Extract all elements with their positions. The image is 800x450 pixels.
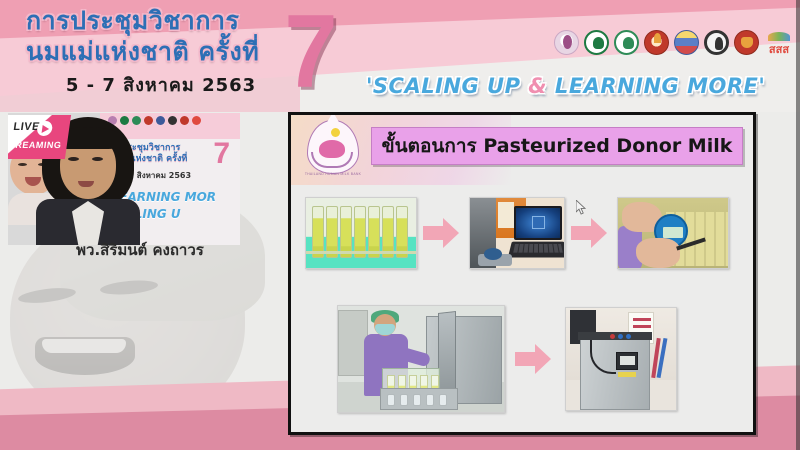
poster-logo-5 xyxy=(156,116,165,125)
pasteurizer-open-lid xyxy=(438,311,456,399)
live-streaming-badge: LIVE STREAMING xyxy=(8,115,71,159)
thai-breastfeeding-center-logo xyxy=(734,30,759,55)
poster-logo-4 xyxy=(144,116,153,125)
poster-logo-8 xyxy=(192,116,201,125)
arrow-shaft xyxy=(571,226,593,240)
arrow-shaft xyxy=(423,226,445,240)
tagline-part2: LEARNING MORE' xyxy=(547,74,765,98)
department-of-health-logo xyxy=(614,30,639,55)
laptop-base xyxy=(508,242,565,258)
thaihealth-flame-icon xyxy=(768,32,790,41)
conference-title: การประชุมวิชาการ นมแม่แห่งชาติ ครั้งที่ … xyxy=(26,6,296,99)
play-icon xyxy=(36,121,53,136)
human-milk-bank-logo: THAILAND HUMAN MILK BANK xyxy=(301,118,365,180)
mouse-cursor xyxy=(576,200,588,216)
arrow-head xyxy=(535,344,551,374)
speaker-name-label: พว.สิริมนต์ คงถาวร xyxy=(30,238,250,262)
arrow-head xyxy=(443,218,459,248)
right-edge-strip xyxy=(796,0,800,450)
control-display-panel xyxy=(616,352,638,370)
tagline-part1: 'SCALING UP xyxy=(366,74,528,98)
royal-college-emblem-logo xyxy=(644,30,669,55)
live-badge-streaming-text: STREAMING xyxy=(8,140,62,150)
speaker-eye-right xyxy=(92,157,103,161)
conference-title-line1: การประชุมวิชาการ xyxy=(26,6,296,36)
laptop-keyboard xyxy=(513,244,563,253)
slide-title-text: ขั้นตอนการ Pasteurized Donor Milk xyxy=(382,131,733,161)
poster-logo-7 xyxy=(180,116,189,125)
laptop-screen xyxy=(516,208,560,238)
photo-milk-bottles-rack xyxy=(305,197,417,269)
hand-lower xyxy=(636,238,680,268)
arrow-head xyxy=(591,218,607,248)
ministry-of-public-health-logo xyxy=(584,30,609,55)
arrow-shaft xyxy=(515,352,537,366)
thaihealth-sss-logo: สสส xyxy=(764,31,794,55)
bottle-rack-shelf xyxy=(306,251,417,254)
control-button-blue-1 xyxy=(618,334,623,339)
child-thumb-eye-left xyxy=(18,163,27,166)
poster-logo-6 xyxy=(168,116,177,125)
lower-bottle-tray xyxy=(380,388,458,410)
conference-tagline: 'SCALING UP & LEARNING MORE' xyxy=(366,74,765,98)
photo-laptop-data-entry xyxy=(469,197,565,269)
national-institute-logo xyxy=(674,30,699,55)
conference-date: 5 - 7 สิงหาคม 2563 xyxy=(26,70,296,99)
tagline-ampersand: & xyxy=(528,74,547,98)
slide-title-banner: ขั้นตอนการ Pasteurized Donor Milk xyxy=(371,127,743,165)
arrow-step-2-to-3 xyxy=(571,218,611,248)
screen-window-icon xyxy=(532,216,545,229)
control-button-blue-2 xyxy=(626,334,631,339)
conference-header: การประชุมวิชาการ นมแม่แห่งชาติ ครั้งที่ … xyxy=(0,0,800,112)
thai-pediatric-society-logo xyxy=(704,30,729,55)
process-row-2 xyxy=(337,305,737,413)
royal-patronage-logo xyxy=(554,30,579,55)
edition-number: 7 xyxy=(284,2,337,102)
conference-title-line2: นมแม่แห่งชาติ ครั้งที่ xyxy=(26,36,296,68)
pasteurizer-top-edge xyxy=(578,332,652,340)
computer-mouse xyxy=(484,248,502,260)
live-stream-video-panel[interactable]: การประชุมวิชาการ นมแม่แห่งชาติ ครั้งที่ … xyxy=(8,113,240,245)
photo-pasteurizer-machine xyxy=(565,307,677,411)
droplet-highlight-dot xyxy=(331,128,340,137)
arrow-step-4-to-5 xyxy=(515,344,555,374)
poster-edition-number: 7 xyxy=(213,139,230,169)
tray-bottle xyxy=(426,394,434,406)
child-teeth xyxy=(42,339,126,353)
tray-bottle xyxy=(400,394,408,406)
presentation-slide: THAILAND HUMAN MILK BANK ขั้นตอนการ Past… xyxy=(288,112,756,435)
tray-bottle xyxy=(413,394,421,406)
tray-bottle xyxy=(439,394,447,406)
milk-bank-logo-caption: THAILAND HUMAN MILK BANK xyxy=(301,172,365,176)
speaker-eye-left xyxy=(68,157,79,161)
thaihealth-sss-text: สสส xyxy=(769,44,789,55)
process-row-1 xyxy=(305,197,745,269)
sponsor-logo-row: สสส xyxy=(554,30,794,55)
laptop-lid xyxy=(514,206,562,240)
photo-nurse-loading-pasteurizer xyxy=(337,305,505,413)
laptop-scene-paper xyxy=(498,202,514,228)
control-button-red xyxy=(610,334,615,339)
slide-stage: การประชุมวิชาการ นมแม่แห่งชาติ ครั้งที่ … xyxy=(0,0,800,450)
yellow-label xyxy=(618,372,636,377)
photo-hand-holding-timer xyxy=(617,197,729,269)
tray-bottle xyxy=(387,394,395,406)
arrow-step-1-to-2 xyxy=(423,218,463,248)
